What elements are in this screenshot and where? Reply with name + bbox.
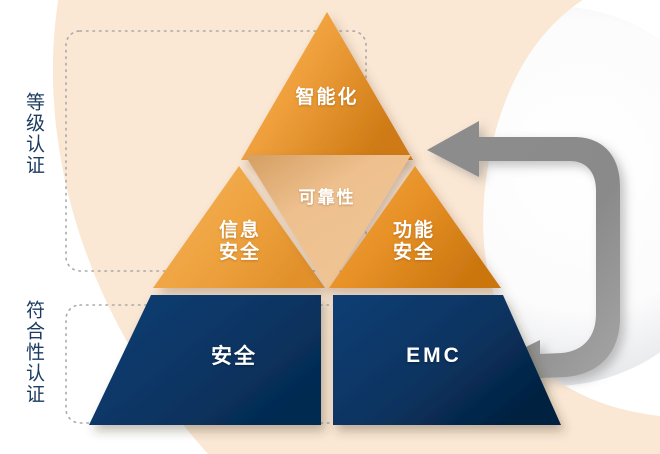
pyramid-svg (0, 0, 660, 454)
side-label-level: 等级认证 (24, 92, 43, 176)
side-label-compliance: 符合性认证 (24, 300, 43, 405)
diagram-canvas: 等级认证 符合性认证 智能化 可靠性 信息 安全 功能 安全 安全 EMC (0, 0, 660, 454)
block-label-funcsafe: 功能 安全 (362, 219, 466, 264)
block-label-reliability: 可靠性 (262, 188, 392, 208)
block-label-safety: 安全 (154, 344, 314, 369)
block-label-infosec: 信息 安全 (188, 219, 292, 264)
block-label-smart: 智能化 (262, 86, 392, 108)
block-label-emc: EMC (344, 344, 524, 369)
